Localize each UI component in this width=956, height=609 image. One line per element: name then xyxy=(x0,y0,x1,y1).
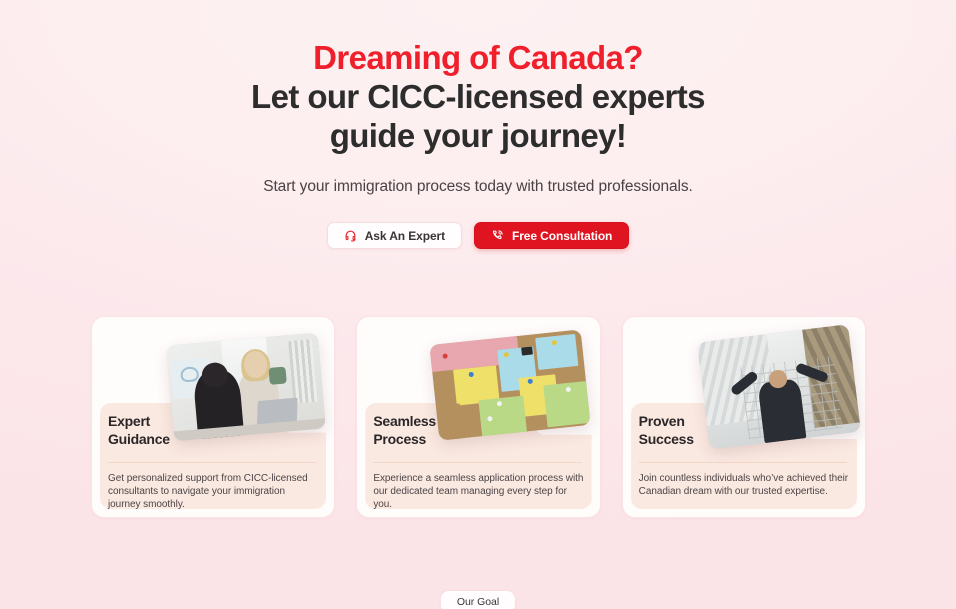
headset-icon xyxy=(344,229,357,242)
cta-button-row: Ask An Expert Free Consultation xyxy=(0,222,956,249)
free-consultation-label: Free Consultation xyxy=(512,229,612,243)
ask-an-expert-button[interactable]: Ask An Expert xyxy=(327,222,462,249)
card-description: Join countless individuals who’ve achiev… xyxy=(639,472,849,498)
card-description: Experience a seamless application proces… xyxy=(373,472,583,511)
headline-line-3: guide your journey! xyxy=(0,116,956,155)
card-divider xyxy=(373,462,581,463)
card-title-line-1: Proven xyxy=(639,413,685,429)
feature-card-proven-success[interactable]: Proven Success Join countless individual… xyxy=(622,316,866,518)
card-divider xyxy=(639,462,847,463)
headline-accent-line: Dreaming of Canada? xyxy=(313,39,643,76)
feature-card-expert-guidance[interactable]: Expert Guidance Get personalized support… xyxy=(91,316,335,518)
hero-section: Dreaming of Canada? Let our CICC-license… xyxy=(0,0,956,249)
feature-card-seamless-process[interactable]: Seamless Process Experience a seamless a… xyxy=(356,316,600,518)
card-title-line-1: Expert xyxy=(108,413,150,429)
free-consultation-button[interactable]: Free Consultation xyxy=(474,222,629,249)
phone-call-icon xyxy=(491,229,504,242)
card-title-line-1: Seamless xyxy=(373,413,436,429)
our-goal-badge: Our Goal xyxy=(440,590,516,609)
card-description: Get personalized support from CICC-licen… xyxy=(108,472,318,511)
card-divider xyxy=(108,462,316,463)
card-title: Expert Guidance xyxy=(108,413,228,448)
ask-an-expert-label: Ask An Expert xyxy=(365,229,445,243)
feature-card-list: Expert Guidance Get personalized support… xyxy=(91,316,866,518)
card-title: Seamless Process xyxy=(373,413,493,448)
card-title-line-2: Process xyxy=(373,431,426,447)
card-title-line-2: Guidance xyxy=(108,431,170,447)
hero-subheadline: Start your immigration process today wit… xyxy=(0,177,956,197)
card-title: Proven Success xyxy=(639,413,759,448)
headline-line-2: Let our CICC-licensed experts xyxy=(0,77,956,116)
card-title-line-2: Success xyxy=(639,431,694,447)
page-title: Dreaming of Canada? Let our CICC-license… xyxy=(0,38,956,155)
